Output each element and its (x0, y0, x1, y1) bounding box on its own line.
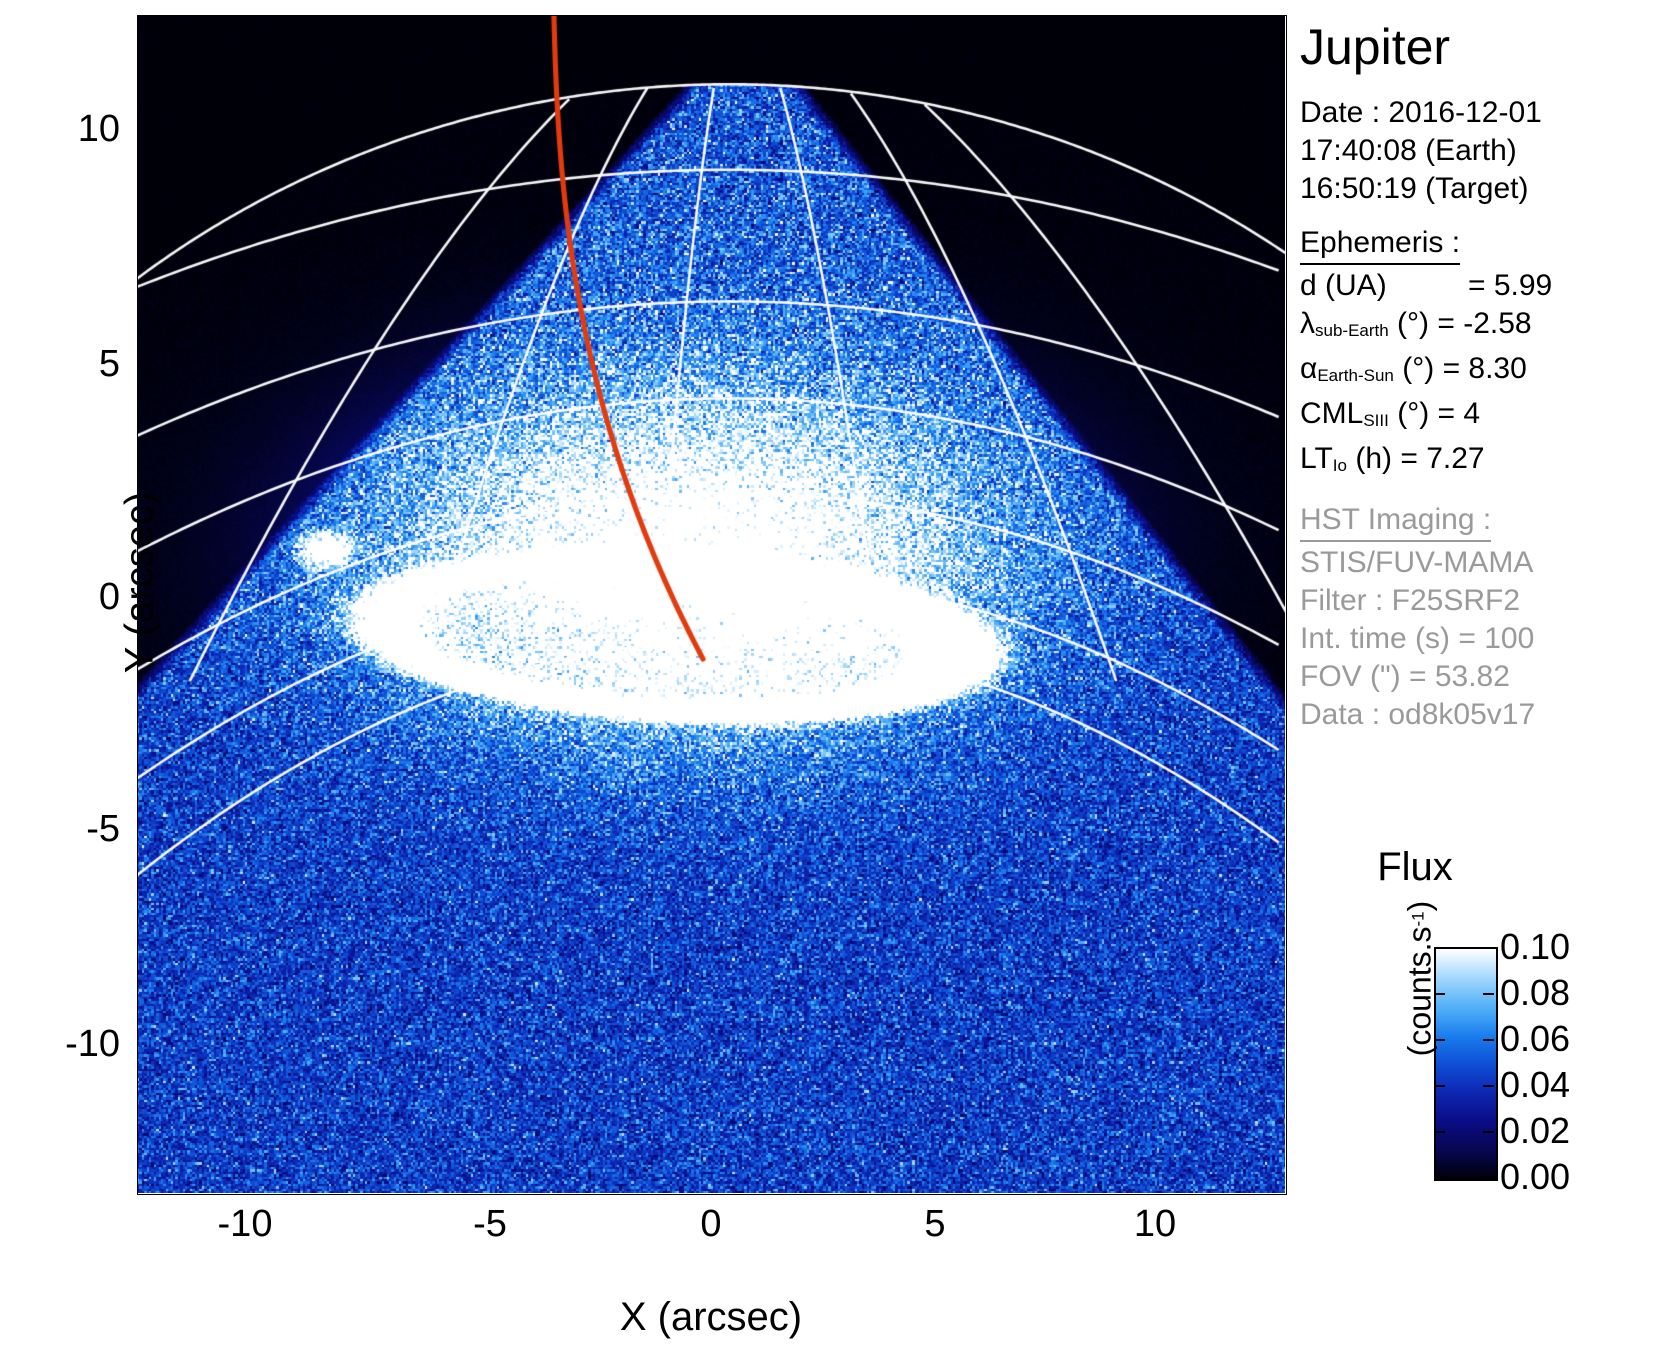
y-tick-label-10: 10 (30, 110, 120, 148)
aurora-heatmap-canvas (137, 15, 1285, 1193)
ephemeris-unit-lt: (h) (1355, 442, 1392, 475)
colorbar-units-exponent: -1 (1409, 911, 1428, 926)
info-panel: Jupiter Date : 2016-12-01 17:40:08 (Eart… (1300, 10, 1665, 734)
colorbar-label-006: 0.06 (1500, 1021, 1570, 1057)
colorbar-label-004: 0.04 (1500, 1067, 1570, 1103)
hst-dataset-id: Data : od8k05v17 (1300, 696, 1665, 734)
hst-imaging-heading: HST Imaging : (1300, 501, 1491, 542)
ephemeris-row-alpha: αEarth-Sun (°) = 8.30 (1300, 350, 1665, 395)
colorbar-label-002: 0.02 (1500, 1113, 1570, 1149)
y-tick-label-5: 5 (30, 345, 120, 383)
colorbar-tick-000-right (1483, 1177, 1494, 1179)
colorbar-label-010: 0.10 (1500, 929, 1570, 965)
colorbar-tick-004-left (1434, 1085, 1445, 1087)
colorbar-tick-004-right (1483, 1085, 1494, 1087)
colorbar-tick-006-left (1434, 1039, 1445, 1041)
x-axis-title: X (arcsec) (137, 1295, 1285, 1340)
colorbar-label-008: 0.08 (1500, 975, 1570, 1011)
x-tick-label-neg10: -10 (190, 1205, 300, 1243)
colorbar-units-label: (counts.s-1) (1402, 859, 1439, 1099)
ephemeris-sym-d: d (1300, 269, 1317, 302)
colorbar-units-paren: ) (1402, 901, 1438, 912)
ephemeris-heading: Ephemeris : (1300, 224, 1460, 265)
hst-integration-time: Int. time (s) = 100 (1300, 620, 1665, 658)
ephemeris-val-cml: = 4 (1438, 397, 1481, 430)
figure-root: 10 5 0 -5 -10 -10 -5 0 5 10 Y (arcsec) X… (0, 0, 1671, 1367)
colorbar-gradient[interactable] (1434, 947, 1498, 1181)
colorbar-tick-010-left (1434, 947, 1445, 949)
hst-fov: FOV (") = 53.82 (1300, 658, 1665, 696)
ephemeris-sym-lambda: λ (1300, 307, 1315, 340)
hst-imaging-block: HST Imaging : STIS/FUV-MAMA Filter : F25… (1300, 501, 1665, 734)
ephemeris-sub-alpha: Earth-Sun (1317, 366, 1394, 385)
colorbar-units-text: (counts.s (1402, 926, 1438, 1056)
colorbar-tick-002-left (1434, 1131, 1445, 1133)
y-tick-label-neg10: -10 (30, 1025, 120, 1063)
colorbar-tick-008-right (1483, 993, 1494, 995)
y-axis-title: Y (arcsec) (118, 433, 163, 733)
ephemeris-sym-alpha: α (1300, 352, 1317, 385)
ephemeris-sym-lt: LT (1300, 442, 1333, 475)
ephemeris-sub-lt: Io (1333, 456, 1347, 475)
ephemeris-sym-cml: CML (1300, 397, 1363, 430)
page-title: Jupiter (1300, 18, 1665, 76)
ephemeris-val-d: = 5.99 (1468, 269, 1552, 302)
ephemeris-unit-lambda: (°) (1397, 307, 1429, 340)
hst-instrument: STIS/FUV-MAMA (1300, 544, 1665, 582)
x-tick-label-neg5: -5 (435, 1205, 545, 1243)
jupiter-aurora-image[interactable] (137, 15, 1285, 1193)
ephemeris-val-lt: = 7.27 (1400, 442, 1484, 475)
ephemeris-unit-alpha: (°) (1402, 352, 1434, 385)
ephemeris-block: Ephemeris : d (UA)= 5.99 λsub-Earth (°) … (1300, 224, 1665, 485)
y-tick-label-0: 0 (30, 578, 120, 616)
hst-filter: Filter : F25SRF2 (1300, 582, 1665, 620)
observation-date: Date : 2016-12-01 (1300, 94, 1665, 132)
colorbar-tick-000-left (1434, 1177, 1445, 1179)
y-tick-label-neg5: -5 (30, 810, 120, 848)
x-tick-label-10: 10 (1100, 1205, 1210, 1243)
x-tick-label-5: 5 (880, 1205, 990, 1243)
ephemeris-sub-cml: SIII (1363, 411, 1389, 430)
ephemeris-val-lambda: = -2.58 (1437, 307, 1531, 340)
ephemeris-row-lt-io: LTIo (h) = 7.27 (1300, 440, 1665, 485)
ephemeris-row-lambda: λsub-Earth (°) = -2.58 (1300, 305, 1665, 350)
colorbar-label-000: 0.00 (1500, 1159, 1570, 1195)
ephemeris-row-distance: d (UA)= 5.99 (1300, 267, 1665, 305)
ephemeris-unit-cml: (°) (1397, 397, 1429, 430)
ephemeris-val-alpha: = 8.30 (1443, 352, 1527, 385)
colorbar-tick-002-right (1483, 1131, 1494, 1133)
ephemeris-unit-d: (UA) (1325, 269, 1387, 302)
colorbar-tick-010-right (1483, 947, 1494, 949)
observation-time-target: 16:50:19 (Target) (1300, 170, 1665, 208)
observation-time-earth: 17:40:08 (Earth) (1300, 132, 1665, 170)
ephemeris-row-cml: CMLSIII (°) = 4 (1300, 395, 1665, 440)
colorbar-tick-008-left (1434, 993, 1445, 995)
colorbar-tick-006-right (1483, 1039, 1494, 1041)
ephemeris-sub-lambda: sub-Earth (1315, 321, 1389, 340)
x-tick-label-0: 0 (656, 1205, 766, 1243)
